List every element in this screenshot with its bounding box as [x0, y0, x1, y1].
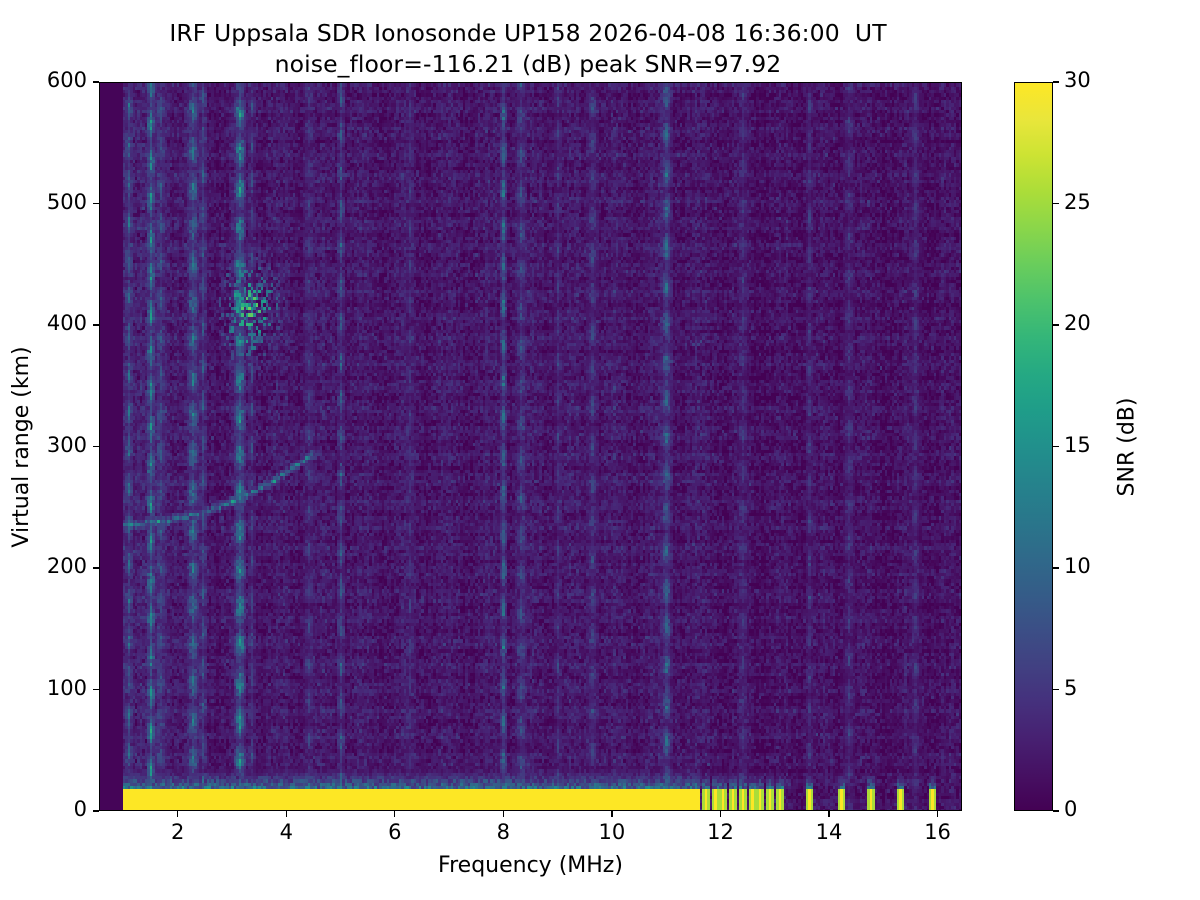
x-tick-mark	[394, 811, 395, 817]
x-axis-label: Frequency (MHz)	[99, 853, 962, 878]
colorbar-tick-mark	[1053, 81, 1059, 82]
y-tick-label: 100	[3, 676, 87, 700]
y-tick-label: 400	[3, 311, 87, 335]
y-tick-mark	[93, 324, 99, 325]
y-tick-label: 600	[3, 68, 87, 92]
x-tick-mark	[177, 811, 178, 817]
y-tick-mark	[93, 81, 99, 82]
x-tick-mark	[720, 811, 721, 817]
x-tick-label: 16	[898, 820, 978, 844]
colorbar	[1014, 82, 1053, 811]
colorbar-gradient	[1015, 83, 1052, 810]
colorbar-tick-label: 30	[1064, 68, 1091, 92]
colorbar-tick-mark	[1053, 324, 1059, 325]
x-tick-mark	[286, 811, 287, 817]
y-tick-label: 200	[3, 554, 87, 578]
x-tick-label: 6	[355, 820, 435, 844]
x-tick-label: 2	[138, 820, 218, 844]
y-tick-mark	[93, 689, 99, 690]
ionogram-heatmap-canvas	[100, 83, 962, 811]
colorbar-tick-label: 15	[1064, 433, 1091, 457]
colorbar-tick-mark	[1053, 689, 1059, 690]
ionogram-figure: IRF Uppsala SDR Ionosonde UP158 2026-04-…	[0, 0, 1200, 900]
colorbar-tick-mark	[1053, 446, 1059, 447]
y-tick-mark	[93, 446, 99, 447]
colorbar-tick-label: 0	[1064, 797, 1077, 821]
x-tick-mark	[503, 811, 504, 817]
y-tick-mark	[93, 810, 99, 811]
colorbar-tick-label: 5	[1064, 676, 1077, 700]
colorbar-tick-label: 20	[1064, 311, 1091, 335]
x-tick-label: 12	[680, 820, 760, 844]
x-tick-mark	[828, 811, 829, 817]
colorbar-tick-label: 10	[1064, 554, 1091, 578]
y-tick-label: 500	[3, 190, 87, 214]
colorbar-label: SNR (dB)	[1115, 397, 1140, 496]
title-line-2: noise_floor=-116.21 (dB) peak SNR=97.92	[0, 49, 1056, 80]
x-tick-label: 4	[246, 820, 326, 844]
y-tick-label: 0	[3, 797, 87, 821]
y-tick-mark	[93, 567, 99, 568]
y-axis-label: Virtual range (km)	[9, 346, 34, 547]
x-tick-mark	[611, 811, 612, 817]
colorbar-tick-mark	[1053, 203, 1059, 204]
x-tick-label: 10	[572, 820, 652, 844]
figure-title: IRF Uppsala SDR Ionosonde UP158 2026-04-…	[0, 18, 1056, 79]
title-line-1: IRF Uppsala SDR Ionosonde UP158 2026-04-…	[0, 18, 1056, 49]
colorbar-tick-mark	[1053, 810, 1059, 811]
colorbar-tick-label: 25	[1064, 190, 1091, 214]
x-tick-mark	[937, 811, 938, 817]
heatmap-plot-area	[99, 82, 962, 811]
y-tick-mark	[93, 203, 99, 204]
x-tick-label: 14	[789, 820, 869, 844]
colorbar-tick-mark	[1053, 567, 1059, 568]
x-tick-label: 8	[463, 820, 543, 844]
